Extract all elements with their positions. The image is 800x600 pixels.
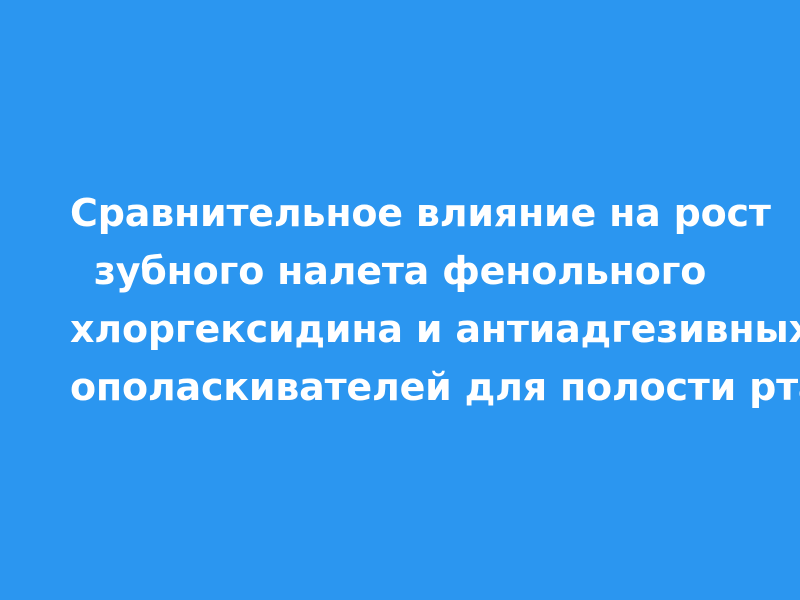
title-line-4: ополаскивателей для полости рта [70,358,730,416]
title-line-1: Сравнительное влияние на рост [70,184,730,242]
title-card: Сравнительное влияние на рост зубного на… [0,0,800,600]
title-line-2: зубного налета фенольного [70,242,730,300]
page-title: Сравнительное влияние на рост зубного на… [70,184,730,416]
title-line-3: хлоргексидина и антиадгезивных [70,300,730,358]
